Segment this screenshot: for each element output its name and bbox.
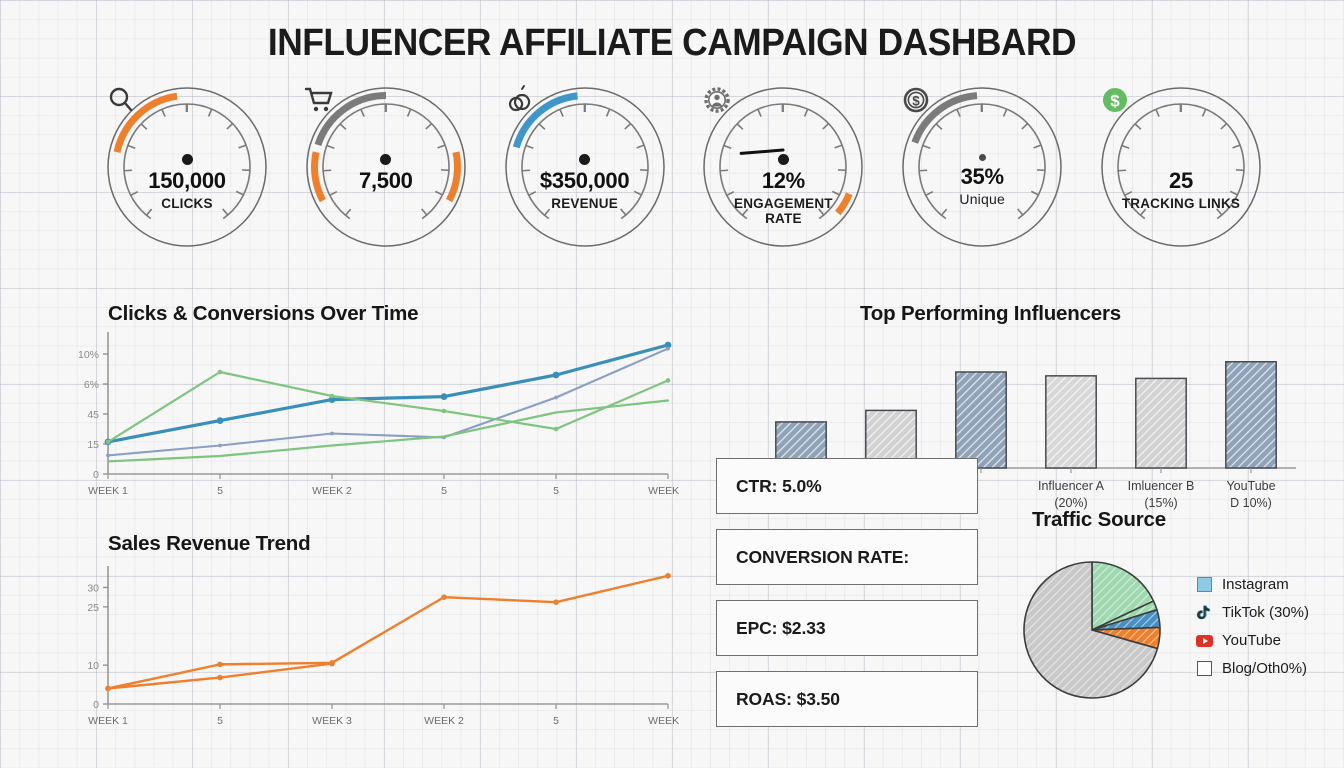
- gauge-hub-dot: [579, 154, 590, 165]
- gauge-value: 25: [1169, 168, 1193, 194]
- gauge-engagement: 12%ENGAGEMENT RATE: [700, 84, 866, 250]
- svg-text:WEEK 3: WEEK 3: [312, 715, 352, 727]
- youtube-icon: [1196, 632, 1213, 649]
- svg-text:45: 45: [87, 409, 99, 421]
- clicks-chart-plot: 015456%10%WEEK 15WEEK 255WEEK 8: [60, 326, 680, 508]
- svg-text:WEEK 1: WEEK 1: [88, 485, 128, 497]
- gauge-label: ENGAGEMENT RATE: [718, 196, 848, 226]
- kpi-box-conversion-rate[interactable]: CONVERSION RATE:: [716, 529, 978, 585]
- legend-item-tiktok[interactable]: TikTok (30%): [1196, 604, 1309, 621]
- bar-3: [1046, 376, 1096, 468]
- gauge-label: CLICKS: [122, 196, 252, 211]
- sales-revenue-chart: Sales Revenue Trend 0102530WEEK 15WEEK 3…: [60, 528, 680, 740]
- kpi-gauge-row: 150,000CLICKS7,500$350,000REVENUE12%ENGA…: [104, 84, 1264, 254]
- legend-item-blog[interactable]: Blog/Oth0%): [1196, 660, 1309, 677]
- svg-text:5: 5: [441, 485, 447, 497]
- gauge-content: 150,000CLICKS: [104, 84, 270, 250]
- gauge-content: $25TRACKING LINKS: [1098, 84, 1264, 250]
- gauge-dollar-coin: $35%Unique: [899, 84, 1065, 250]
- svg-text:0: 0: [93, 699, 99, 711]
- svg-text:WEEK 1: WEEK 1: [88, 715, 128, 727]
- svg-text:$: $: [1110, 91, 1120, 110]
- traffic-chart-title: Traffic Source: [1032, 508, 1166, 532]
- gauge-label: TRACKING LINKS: [1116, 196, 1246, 211]
- traffic-pie: [1012, 552, 1188, 708]
- tiktok-icon: [1196, 604, 1213, 621]
- svg-text:WEEK 8: WEEK 8: [648, 485, 680, 497]
- svg-text:5: 5: [553, 485, 559, 497]
- svg-text:$: $: [912, 93, 920, 108]
- gauge-hub-dot: [979, 154, 986, 161]
- gauge-value: 7,500: [359, 168, 413, 194]
- gauge-content: $35%Unique: [899, 84, 1065, 250]
- gauge-value: 35%: [961, 164, 1004, 190]
- influencers-chart-title: Top Performing Influencers: [860, 302, 1121, 326]
- svg-text:30: 30: [87, 582, 99, 594]
- kpi-box-ctr[interactable]: CTR: 5.0%: [716, 458, 978, 514]
- revenue-chart-title: Sales Revenue Trend: [108, 532, 310, 556]
- kpi-metric-list: CTR: 5.0%CONVERSION RATE:EPC: $2.33ROAS:…: [716, 458, 978, 727]
- gauge-label: REVENUE: [520, 196, 650, 211]
- gauge-value: $350,000: [540, 168, 629, 194]
- legend-label: Instagram: [1222, 576, 1289, 593]
- gauge-content: $350,000REVENUE: [502, 84, 668, 250]
- kpi-box-epc[interactable]: EPC: $2.33: [716, 600, 978, 656]
- legend-item-instagram[interactable]: Instagram: [1196, 576, 1309, 593]
- svg-text:Influencer A: Influencer A: [1038, 479, 1105, 493]
- svg-text:10%: 10%: [78, 349, 99, 361]
- svg-text:15: 15: [87, 439, 99, 451]
- gauge-content: 12%ENGAGEMENT RATE: [700, 84, 866, 250]
- legend-label: TikTok (30%): [1222, 604, 1309, 621]
- svg-text:6%: 6%: [84, 379, 99, 391]
- svg-text:WEEK 2: WEEK 2: [424, 715, 464, 727]
- blog-icon: [1196, 660, 1213, 677]
- legend-label: YouTube: [1222, 632, 1281, 649]
- gauge-cart: 7,500: [303, 84, 469, 250]
- svg-text:Imluencer B: Imluencer B: [1128, 479, 1195, 493]
- svg-text:YouTube: YouTube: [1226, 479, 1275, 493]
- kpi-box-roas[interactable]: ROAS: $3.50: [716, 671, 978, 727]
- clicks-conversions-chart: Clicks & Conversions Over Time 015456%10…: [60, 298, 680, 508]
- bar-2: [956, 372, 1006, 468]
- svg-text:WEEK 8: WEEK 8: [648, 715, 680, 727]
- gauge-search: 150,000CLICKS: [104, 84, 270, 250]
- legend-label: Blog/Oth0%): [1222, 660, 1307, 677]
- svg-text:5: 5: [217, 485, 223, 497]
- gauge-hub-dot: [182, 154, 193, 165]
- bar-5: [1226, 362, 1276, 468]
- gauge-hub-dot: [778, 154, 789, 165]
- instagram-icon: [1196, 576, 1213, 593]
- clicks-chart-title: Clicks & Conversions Over Time: [108, 302, 418, 326]
- svg-text:0: 0: [93, 469, 99, 481]
- gauge-content: 7,500: [303, 84, 469, 250]
- bar-4: [1136, 378, 1186, 468]
- traffic-legend: InstagramTikTok (30%)YouTubeBlog/Oth0%): [1196, 576, 1309, 677]
- svg-text:5: 5: [217, 715, 223, 727]
- traffic-source-chart: Traffic Source InstagramTikTok (30%)YouT…: [1000, 508, 1344, 720]
- revenue-chart-plot: 0102530WEEK 15WEEK 3WEEK 25WEEK 8: [60, 556, 680, 738]
- legend-item-youtube[interactable]: YouTube: [1196, 632, 1309, 649]
- gauge-dollar-green: $25TRACKING LINKS: [1098, 84, 1264, 250]
- svg-text:25: 25: [87, 602, 99, 614]
- gauge-label: Unique: [917, 192, 1047, 208]
- gauge-shopping-bag: $350,000REVENUE: [502, 84, 668, 250]
- page-title: INFLUENCER AFFILIATE CAMPAIGN DASHBARD: [47, 22, 1297, 65]
- svg-text:5: 5: [553, 715, 559, 727]
- gauge-value: 12%: [762, 168, 805, 194]
- svg-text:10: 10: [87, 660, 99, 672]
- gauge-hub-dot: [380, 154, 391, 165]
- gauge-value: 150,000: [148, 168, 225, 194]
- svg-text:WEEK 2: WEEK 2: [312, 485, 352, 497]
